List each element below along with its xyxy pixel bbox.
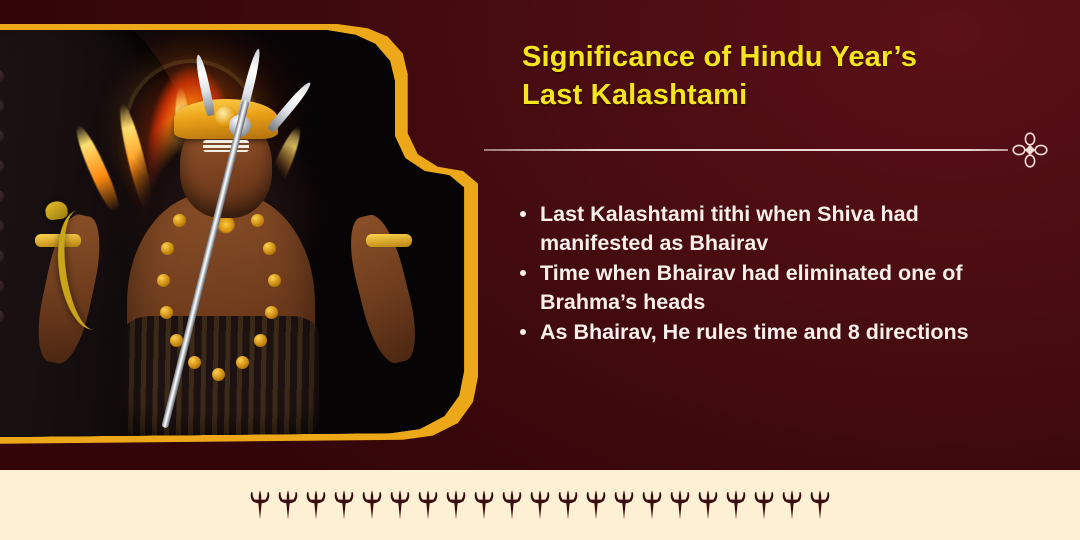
title-line-2: Last Kalashtami [522, 76, 992, 114]
trishul-icon [276, 488, 300, 522]
trishul-icon [528, 488, 552, 522]
trishul-icon [752, 488, 776, 522]
trishul-icon [640, 488, 664, 522]
trident-border [248, 488, 832, 522]
trishul-icon [500, 488, 524, 522]
trishul-icon [332, 488, 356, 522]
trishul-icon [584, 488, 608, 522]
trishul-icon [360, 488, 384, 522]
trishul-icon [444, 488, 468, 522]
list-item: Last Kalashtami tithi when Shiva had man… [536, 200, 1012, 257]
divider-line [484, 149, 1008, 151]
slide-root: Significance of Hindu Year’s Last Kalash… [0, 0, 1080, 540]
arch-studs [0, 70, 22, 370]
trishul-icon [416, 488, 440, 522]
trishul-icon [780, 488, 804, 522]
trishul-icon [612, 488, 636, 522]
title-line-1: Significance of Hindu Year’s [522, 38, 992, 76]
trishul-icon [724, 488, 748, 522]
page-title: Significance of Hindu Year’s Last Kalash… [522, 38, 992, 115]
deity-image-panel [0, 18, 484, 450]
trishul-icon [808, 488, 832, 522]
bullet-list: Last Kalashtami tithi when Shiva had man… [512, 200, 1012, 349]
footer-band [0, 470, 1080, 540]
trishul-icon [388, 488, 412, 522]
list-item: Time when Bhairav had eliminated one of … [536, 259, 1012, 316]
divider [484, 140, 1050, 160]
quatrefoil-knot-ornament [1010, 130, 1050, 170]
trishul-icon [472, 488, 496, 522]
trishul-icon [248, 488, 272, 522]
trishul-icon [696, 488, 720, 522]
trishul-icon [556, 488, 580, 522]
armband-right [366, 234, 412, 247]
list-item: As Bhairav, He rules time and 8 directio… [536, 318, 1012, 347]
trishul-icon [668, 488, 692, 522]
trishul-icon [304, 488, 328, 522]
